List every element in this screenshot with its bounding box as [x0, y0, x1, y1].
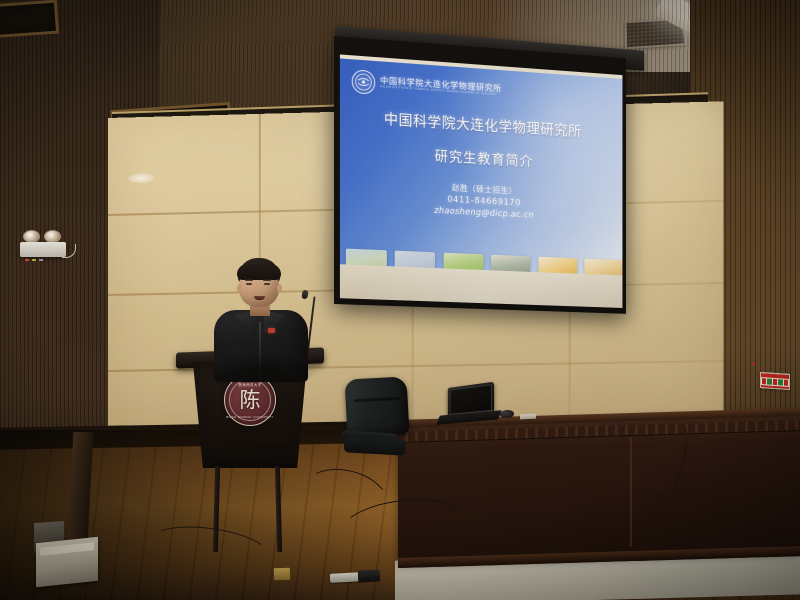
emergency-led-grey	[39, 259, 43, 261]
white-crate-lip	[40, 542, 94, 556]
speaker-lapel-badge	[268, 328, 275, 333]
emergency-light	[20, 228, 72, 258]
wall-inset-panel-upper	[0, 0, 59, 38]
emergency-led-red	[25, 259, 29, 261]
speaker-shadow	[206, 354, 318, 382]
chair-seat	[344, 436, 407, 455]
projection-screen-surface: 中国科学院大连化学物理研究所 DALIAN INSTITUTE OF CHEMI…	[340, 54, 623, 308]
wall-sign-screw	[752, 362, 755, 365]
speaker-eye-left	[246, 283, 252, 285]
lecture-hall-photo: 中国科学院大连化学物理研究所 DALIAN INSTITUTE OF CHEMI…	[0, 0, 800, 600]
presenter-laptop	[438, 385, 500, 427]
emergency-light-body	[20, 242, 66, 257]
chair-backrest	[345, 376, 410, 437]
institute-seal-icon	[352, 69, 375, 95]
speaker-ear-left	[237, 284, 242, 293]
emergency-led-amber	[32, 259, 36, 261]
wall-notice-sign	[760, 372, 790, 390]
projection-screen: 中国科学院大连化学物理研究所 DALIAN INSTITUTE OF CHEMI…	[334, 36, 626, 314]
speaker-ear-right	[277, 284, 282, 293]
emblem-arc-bottom-text: BOHAI NORMAL UNIVERSITY	[225, 416, 275, 419]
podium-leg-right	[275, 466, 282, 552]
speaker-hairline	[237, 264, 281, 280]
desk-paper	[520, 414, 536, 420]
emblem-arc-top-text: 渤海师范大学	[225, 382, 275, 387]
head-table-front-panel	[398, 416, 800, 568]
slide-contact-block: 赵胜（硕士招生） 0411-84669170 zhaosheng@dicp.ac…	[340, 176, 623, 226]
floor-box	[274, 568, 290, 581]
office-chair	[342, 378, 412, 456]
speaker-brow-left	[245, 279, 253, 281]
speaker-presenter	[206, 258, 318, 378]
slide-logo: 中国科学院大连化学物理研究所 DALIAN INSTITUTE OF CHEMI…	[352, 69, 502, 103]
slide-title: 中国科学院大连化学物理研究所	[340, 105, 623, 143]
slide-subtitle: 研究生教育简介	[340, 140, 623, 176]
plug-block	[358, 569, 381, 582]
presentation-slide: 中国科学院大连化学物理研究所 DALIAN INSTITUTE OF CHEMI…	[340, 58, 623, 287]
speaker-brow-right	[263, 279, 271, 281]
laptop-keyboard-base	[436, 410, 502, 425]
white-crate	[36, 537, 98, 588]
speaker-eye-right	[264, 283, 270, 285]
